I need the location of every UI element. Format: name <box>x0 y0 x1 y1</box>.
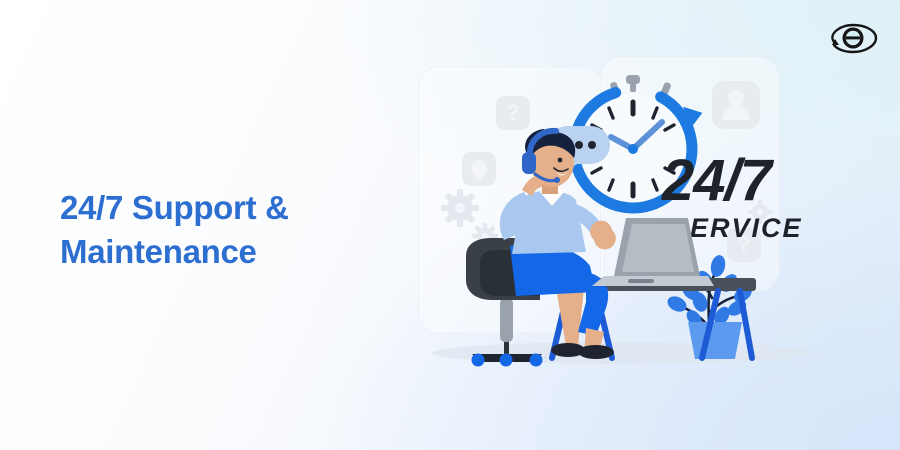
question-mark-tile-left: ? <box>496 96 530 130</box>
user-avatar-tile <box>712 81 760 129</box>
support-banner: 24/7 Support & Maintenance <box>0 0 900 450</box>
page-title: 24/7 Support & Maintenance <box>60 186 380 273</box>
gear-large <box>441 189 479 227</box>
lightbulb-tile <box>462 152 496 186</box>
plant-pot <box>688 322 742 359</box>
illustration: ? <box>400 40 840 390</box>
svg-text:?: ? <box>506 100 519 125</box>
wordmark-primary: 24/7 <box>661 148 775 213</box>
